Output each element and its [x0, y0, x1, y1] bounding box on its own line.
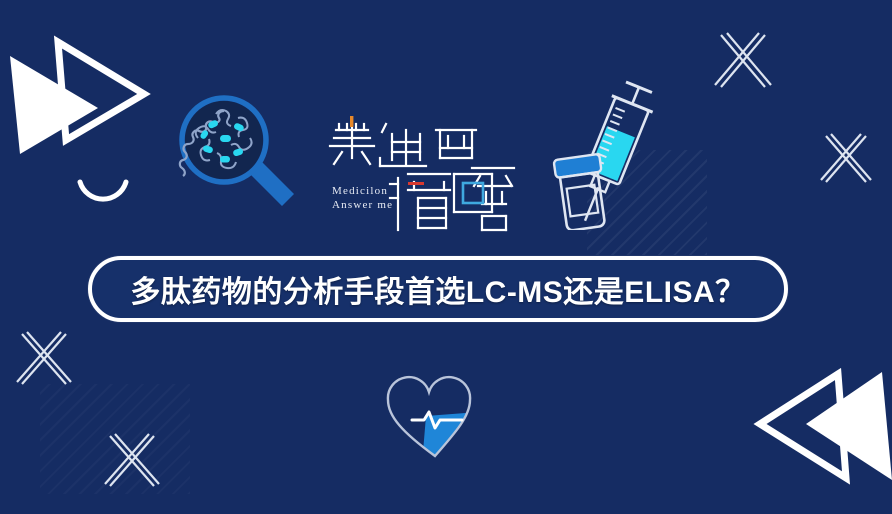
cross-bottom-left-lower-icon: [104, 432, 160, 495]
logo-cn-characters: [322, 112, 522, 237]
cross-top-right-icon: [714, 30, 772, 97]
heart-pulse-icon: [382, 372, 488, 460]
magnifying-glass-virus-icon: [176, 94, 298, 206]
logo-accent-orange: [350, 116, 353, 127]
cross-bottom-left-upper-icon: [16, 330, 72, 393]
logo-en-line2: Answer me: [332, 198, 393, 212]
title-pill: 多肽药物的分析手段首选LC-MS还是ELISA？: [88, 256, 788, 322]
logo-english-lines: Medicilon Answer me: [332, 184, 393, 212]
logo-en-line1: Medicilon: [332, 184, 393, 198]
cross-right-icon: [820, 132, 872, 191]
triangle-pair-right: [0, 22, 156, 162]
syringe-and-vial-icon: [546, 78, 678, 230]
arc-open-circle-icon: [72, 176, 134, 237]
banner-root: Medicilon Answer me 多肽药物的分析手段首选LC-MS还是EL…: [0, 0, 892, 514]
page-title: 多肽药物的分析手段首选LC-MS还是ELISA？: [130, 267, 745, 311]
triangle-pair-left: [742, 368, 892, 514]
logo-accent-red: [408, 182, 424, 185]
diagonal-hatch-left: [40, 384, 190, 494]
medicilon-logo: Medicilon Answer me: [322, 112, 522, 237]
